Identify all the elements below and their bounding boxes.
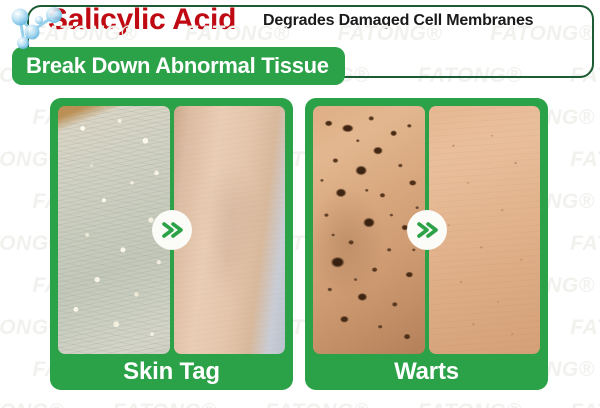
watermark-row: FATONG®FATONG®FATONG®FATONG®FATONG®FATON… — [0, 400, 600, 408]
card-label-skin-tag: Skin Tag — [58, 354, 285, 390]
watermark-text: FATONG® — [570, 232, 600, 256]
promo-graphic: FATONG®FATONG®FATONG®FATONG®FATONG®FATON… — [0, 0, 600, 408]
comparison-card-warts: Warts — [305, 98, 548, 390]
watermark-text: FATONG® — [570, 148, 600, 172]
watermark-text: FATONG® — [418, 400, 523, 408]
comparison-card-list: Skin Tag Warts — [50, 98, 548, 390]
card-label-warts: Warts — [313, 354, 540, 390]
watermark-text: FATONG® — [418, 0, 523, 4]
watermark-text: FATONG® — [570, 0, 600, 4]
watermark-text: FATONG® — [265, 0, 370, 4]
molecule-icon — [8, 2, 76, 58]
before-after-photo-pair-warts — [313, 106, 540, 354]
watermark-text: FATONG® — [113, 400, 218, 408]
watermark-text: FATONG® — [265, 400, 370, 408]
before-after-photo-pair-skin-tag — [58, 106, 285, 354]
watermark-text: FATONG® — [570, 316, 600, 340]
double-chevron-right-icon — [407, 210, 447, 250]
watermark-text: FATONG® — [0, 400, 65, 408]
comparison-card-skin-tag: Skin Tag — [50, 98, 293, 390]
double-chevron-right-icon — [152, 210, 192, 250]
watermark-text: FATONG® — [570, 400, 600, 408]
